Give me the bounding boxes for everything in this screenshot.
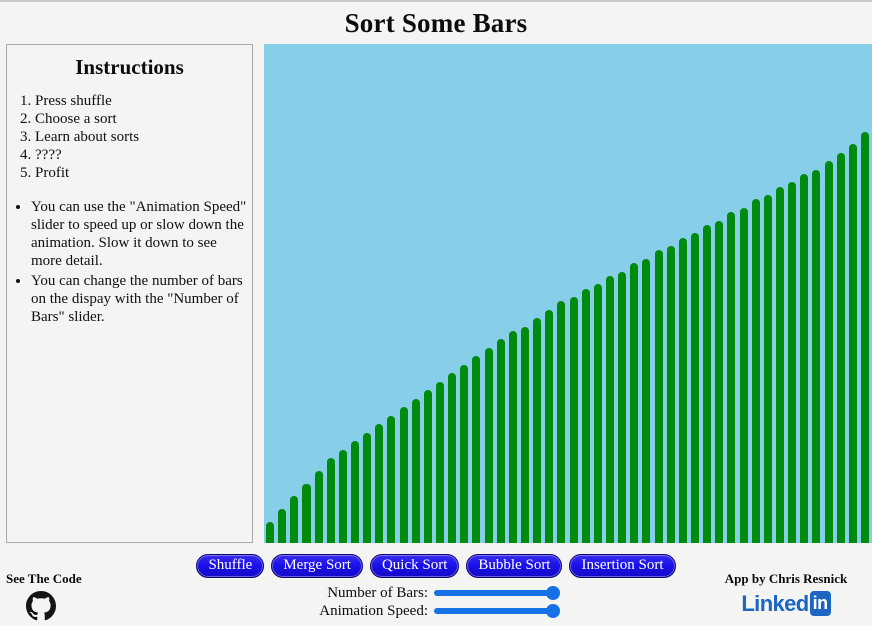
bar [424,390,432,543]
insertion-sort-button[interactable]: Insertion Sort [569,554,675,579]
bar [861,132,869,543]
bar [764,195,772,543]
app-credit-label: App by Chris Resnick [706,571,866,587]
instructions-step: Press shuffle [35,92,252,110]
bar [472,356,480,543]
bar [302,484,310,543]
linkedin-wordmark: Linked [741,593,808,615]
quick-sort-button[interactable]: Quick Sort [370,554,459,579]
bar [752,199,760,543]
linkedin-icon[interactable]: Linked in [706,591,866,616]
bar [703,225,711,543]
bar [351,441,359,543]
bar [278,509,286,543]
bar [412,399,420,543]
instructions-tip-list: You can use the "Animation Speed" slider… [7,198,252,326]
bar [266,522,274,543]
bar [545,310,553,543]
bar [557,301,565,543]
animation-speed-label: Animation Speed: [310,603,428,620]
bar [570,297,578,543]
bar [339,450,347,543]
bar [715,221,723,543]
bar [618,272,626,543]
instructions-step: Choose a sort [35,110,252,128]
github-icon[interactable] [26,591,56,621]
page-title: Sort Some Bars [0,2,872,39]
bar [387,416,395,543]
instructions-heading: Instructions [7,55,252,80]
bar [521,327,529,543]
bars-container [264,44,872,543]
bar [460,365,468,543]
bar-visualization-panel [264,44,872,543]
bubble-sort-button[interactable]: Bubble Sort [466,554,562,579]
bar [800,174,808,543]
instructions-step: Learn about sorts [35,128,252,146]
instructions-tip: You can use the "Animation Speed" slider… [31,198,252,271]
app-credit-section: App by Chris Resnick Linked in [706,571,866,616]
bar [485,348,493,543]
bar [655,250,663,543]
animation-speed-thumb[interactable] [546,604,560,618]
bar [740,208,748,543]
number-of-bars-track[interactable] [434,590,554,596]
instructions-step: ???? [35,146,252,164]
bar [327,458,335,543]
see-the-code-label: See The Code [6,571,82,586]
number-of-bars-label: Number of Bars: [310,585,428,602]
bar [582,289,590,543]
animation-speed-track[interactable] [434,608,554,614]
instructions-step-list: Press shuffle Choose a sort Learn about … [7,92,252,182]
bar [691,233,699,543]
bar [606,276,614,543]
bar [290,496,298,543]
bar [375,424,383,543]
main-area: Instructions Press shuffle Choose a sort… [0,44,872,544]
number-of-bars-slider[interactable] [434,585,562,601]
bar [509,331,517,543]
bar [776,187,784,543]
bar [825,161,833,543]
instructions-step: Profit [35,164,252,182]
see-the-code-section: See The Code [4,570,154,621]
bar [667,246,675,543]
instructions-panel: Instructions Press shuffle Choose a sort… [6,44,253,543]
bar [436,382,444,543]
bar [812,170,820,543]
bar [497,339,505,543]
linkedin-in-badge: in [810,591,831,616]
merge-sort-button[interactable]: Merge Sort [271,554,363,579]
bar [533,318,541,543]
bar [400,407,408,543]
animation-speed-slider[interactable] [434,603,562,619]
bar [788,182,796,543]
shuffle-button[interactable]: Shuffle [196,554,264,579]
bar [594,284,602,543]
number-of-bars-thumb[interactable] [546,586,560,600]
bar [630,263,638,543]
bar [448,373,456,543]
bar [642,259,650,543]
bar [849,144,857,543]
bar [315,471,323,543]
bar [363,433,371,543]
bar [679,238,687,543]
bar [727,212,735,543]
bar [837,153,845,543]
instructions-tip: You can change the number of bars on the… [31,272,252,326]
